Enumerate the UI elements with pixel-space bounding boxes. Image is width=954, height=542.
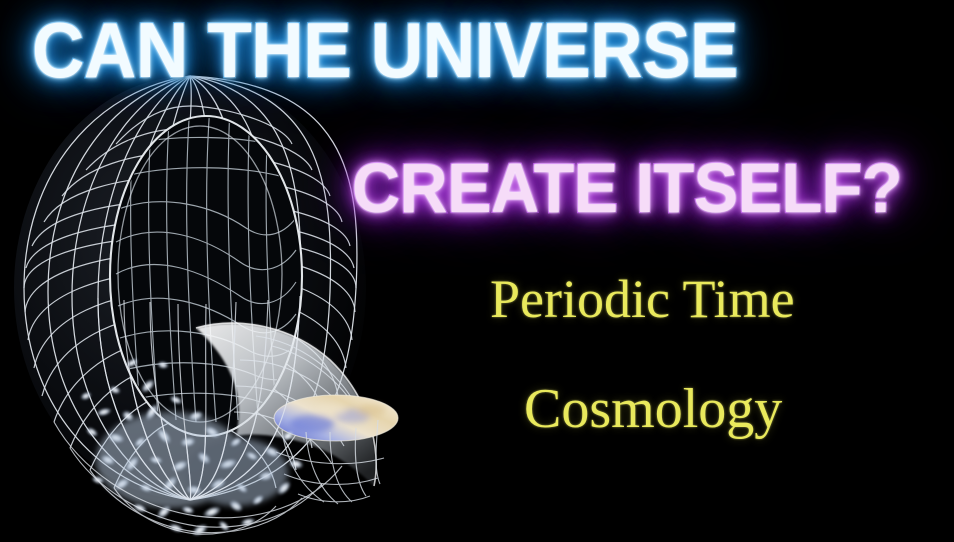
spacetime-grid-surface bbox=[116, 106, 296, 422]
torus-body-shading bbox=[14, 76, 366, 500]
video-thumbnail: CAN THE UNIVERSE CREATE ITSELF? Periodic… bbox=[0, 0, 954, 542]
torus-diagram-svg bbox=[0, 60, 440, 542]
subtitle-line-1: Periodic Time bbox=[490, 268, 795, 330]
lower-torus-mesh bbox=[276, 420, 384, 504]
galaxy-cluster-field bbox=[79, 356, 305, 539]
torus-mouth-rim bbox=[110, 116, 302, 436]
torus-inner-mouth bbox=[110, 116, 302, 436]
torus-latitude-rings bbox=[24, 106, 356, 488]
funnel-wireframe bbox=[234, 336, 362, 464]
subtitle-line-2: Cosmology bbox=[524, 377, 782, 441]
cosmic-microwave-background-disk bbox=[274, 395, 398, 441]
torus-longitude-lines bbox=[24, 76, 357, 500]
torus-mouth-rim-inner bbox=[118, 126, 282, 422]
foreground-torus-mesh bbox=[54, 296, 342, 534]
headline-line-2: CREATE ITSELF? bbox=[352, 148, 902, 228]
wireframe-torus-illustration bbox=[0, 60, 440, 542]
spacetime-funnel-sheet bbox=[196, 323, 376, 486]
headline-line-1: CAN THE UNIVERSE bbox=[32, 6, 738, 94]
